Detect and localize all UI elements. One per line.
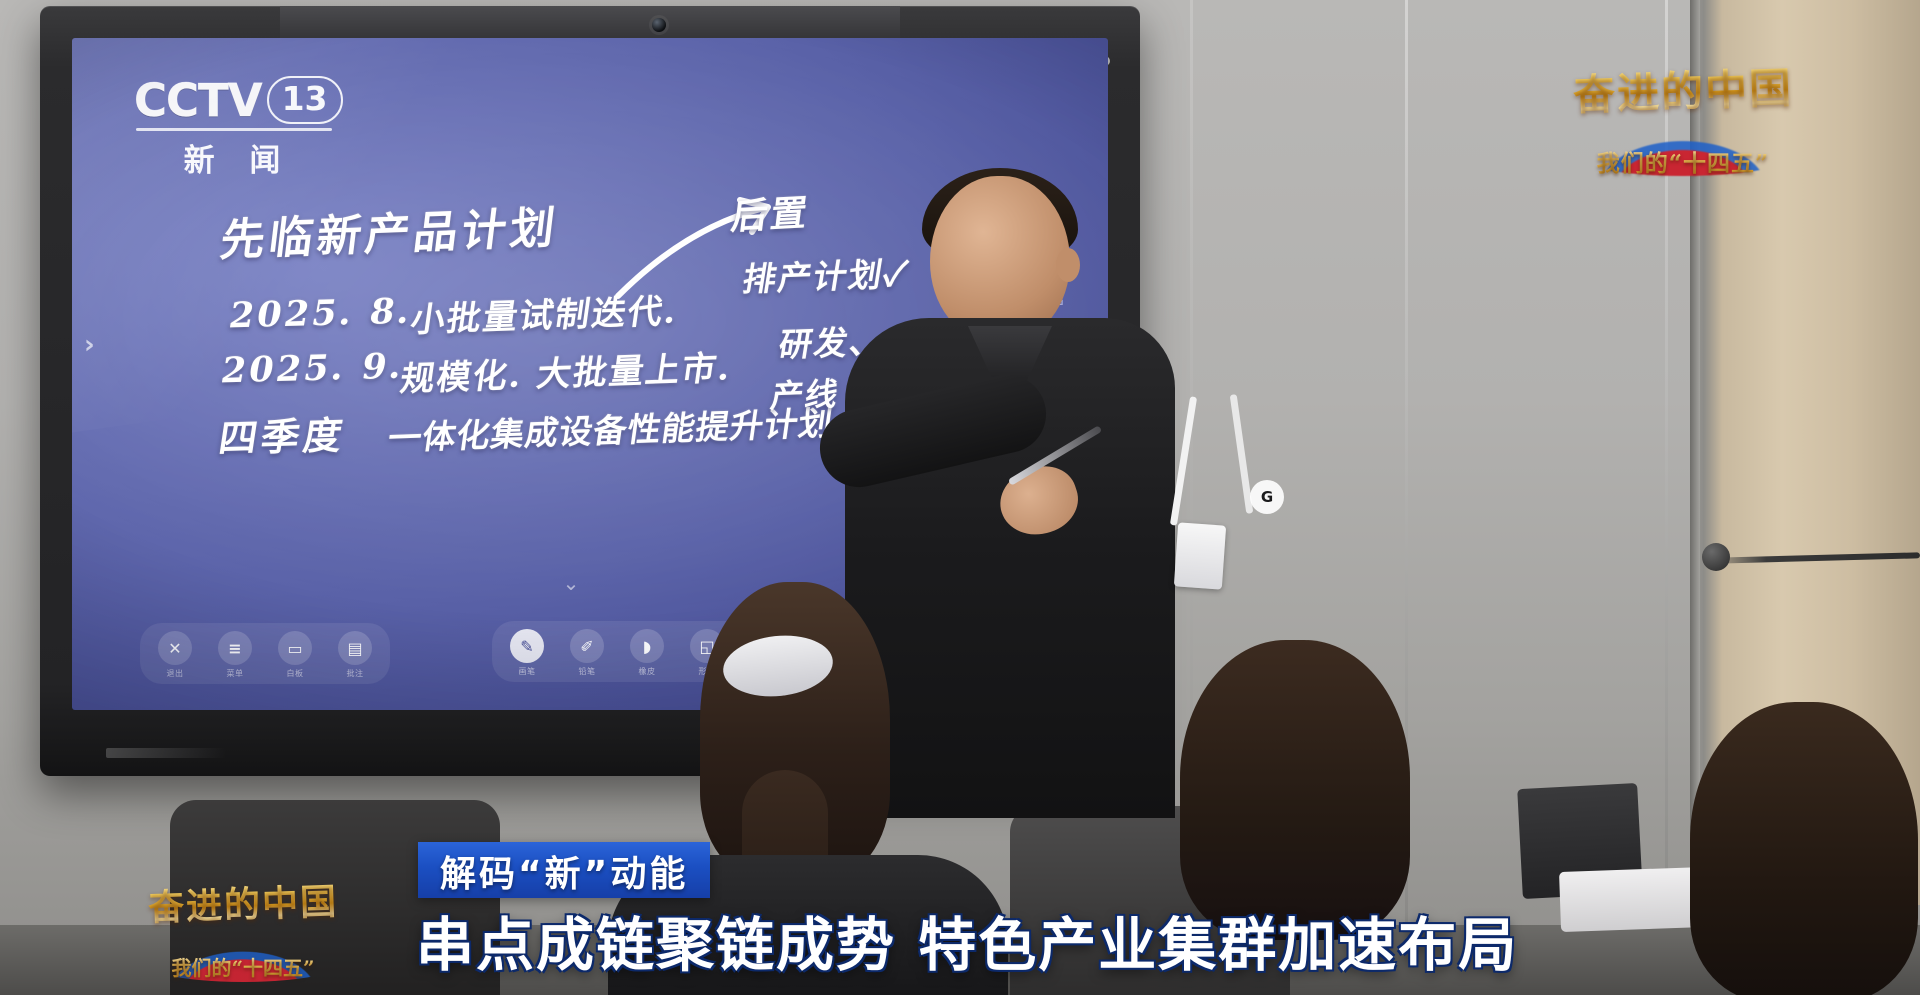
logo-underline xyxy=(136,128,332,131)
whiteboard-toolbar-left[interactable]: ✕ 退出 ≡ 菜单 ▭ 白板 ▤ 批注 xyxy=(140,623,390,684)
pencil-icon[interactable]: ✐ xyxy=(570,629,604,663)
exit-label: 退出 xyxy=(152,668,198,679)
program-bug-subtitle: 我们的“十四五” xyxy=(1538,144,1828,178)
camera-icon xyxy=(652,18,666,32)
whiteboard-label: 白板 xyxy=(272,668,318,679)
handwriting-date: 四季度 xyxy=(216,404,351,462)
broadcast-screenshot: CCTV 13 新 闻 先临新产品计划 2025. 8. 2025. 9. 四季… xyxy=(0,0,1920,995)
handwriting-content: 小批量试制迭代. xyxy=(408,283,682,341)
pencil-tool[interactable]: ✐ 铅笔 xyxy=(564,629,610,677)
annotate-icon[interactable]: ▤ xyxy=(338,631,372,665)
annotate-label: 批注 xyxy=(332,668,378,679)
ceiling-microphone-icon xyxy=(1702,543,1730,571)
chevron-down-icon[interactable]: ⌄ xyxy=(542,574,600,592)
handwriting-right-heading: 后置 xyxy=(728,184,813,240)
menu-button[interactable]: ≡ 菜单 xyxy=(212,631,258,679)
channel-name-label: 新 闻 xyxy=(134,135,330,180)
pen-tool[interactable]: ✎ 画笔 xyxy=(504,629,550,677)
kicker-text: 解码“新”动能 xyxy=(440,845,688,897)
chevron-right-icon[interactable]: › xyxy=(84,330,95,360)
pen-icon[interactable]: ✎ xyxy=(510,629,544,663)
handwriting-date: 2025. 8. xyxy=(226,291,416,337)
lower-bug-subtitle: 我们的“十四五” xyxy=(118,952,368,981)
presenter-head xyxy=(930,176,1070,341)
presenter-ear xyxy=(1056,248,1080,282)
menu-label: 菜单 xyxy=(212,668,258,679)
handwriting-date: 2025. 9. xyxy=(218,346,408,392)
whiteboard-icon[interactable]: ▭ xyxy=(278,631,312,665)
eraser-label: 橡皮 xyxy=(624,666,670,677)
handwriting-right-item: 排产计划✓ xyxy=(740,247,913,301)
exit-button[interactable]: ✕ 退出 xyxy=(152,631,198,679)
handwriting-content: 规模化. 大批量上市. xyxy=(398,340,736,400)
shirt-logo-icon: G xyxy=(1250,480,1284,514)
lower-bug-title: 奋进的中国 xyxy=(117,872,369,933)
lower-third-kicker: 解码“新”动能 xyxy=(418,842,710,898)
handwriting-title: 先临新产品计划 xyxy=(217,192,562,269)
lower-third-bug: 奋进的中国 我们的“十四五” xyxy=(118,876,368,986)
pencil-label: 铅笔 xyxy=(564,666,610,677)
pen-label: 画笔 xyxy=(504,666,550,677)
cctv-wordmark: CCTV xyxy=(134,74,262,127)
menu-icon[interactable]: ≡ xyxy=(218,631,252,665)
lower-third-headline: 串点成链聚链成势 特色产业集群加速布局 xyxy=(416,898,1518,982)
program-bug: 奋进的中国 我们的“十四五” xyxy=(1538,52,1828,182)
annotate-button[interactable]: ▤ 批注 xyxy=(332,631,378,679)
close-icon[interactable]: ✕ xyxy=(158,631,192,665)
name-badge xyxy=(1174,522,1226,589)
whiteboard-button[interactable]: ▭ 白板 xyxy=(272,631,318,679)
program-bug-title: 奋进的中国 xyxy=(1537,53,1829,124)
eraser-tool[interactable]: ◗ 橡皮 xyxy=(624,629,670,677)
eraser-icon[interactable]: ◗ xyxy=(630,629,664,663)
board-brand-logo xyxy=(106,748,226,758)
audience-member-center xyxy=(1180,640,1410,940)
audience-member-right xyxy=(1690,702,1918,995)
channel-number: 13 xyxy=(267,76,343,124)
cctv13-logo: CCTV 13 新 闻 xyxy=(134,74,364,180)
